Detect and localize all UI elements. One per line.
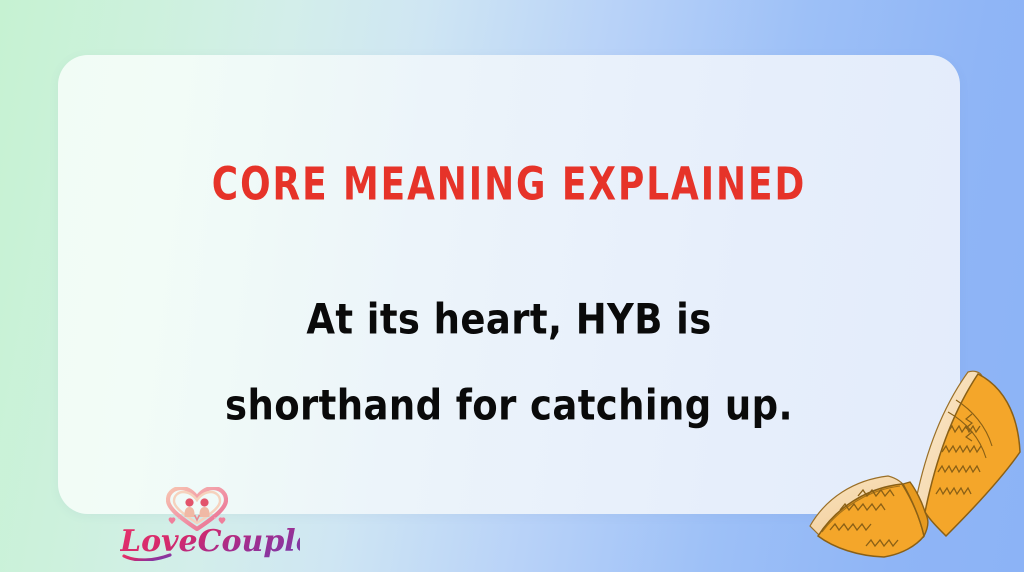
brand-logo: LoveCouplez xyxy=(120,487,300,561)
logo-wordmark: LoveCouplez xyxy=(120,521,300,561)
body-line-1: At its heart, HYB is xyxy=(58,272,960,368)
open-book-icon xyxy=(796,360,1024,560)
page-title: CORE MEANING EXPLAINED xyxy=(72,158,947,210)
poster-canvas: CORE MEANING EXPLAINED At its heart, HYB… xyxy=(0,0,1024,572)
logo-wordmark-text: LoveCouplez xyxy=(120,524,300,559)
